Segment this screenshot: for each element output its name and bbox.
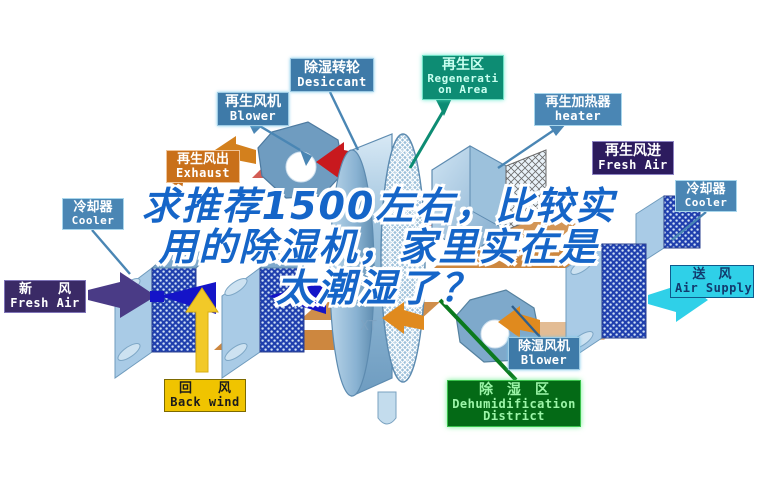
label-cooler-right-cn: 冷却器 (680, 183, 732, 197)
label-air-supply-en: Air Supply (675, 282, 749, 295)
label-fresh-air-in-en: Fresh Air (9, 297, 81, 310)
label-fresh-air-in: 新 风 Fresh Air (4, 280, 86, 313)
label-regeneration-fresh-air-in-cn: 再生风进 (597, 144, 669, 159)
label-desiccant-wheel-cn: 除湿转轮 (295, 61, 369, 76)
label-regeneration-blower-en: Blower (222, 110, 284, 123)
label-regeneration-fresh-air-in: 再生风进 Fresh Air (592, 141, 674, 175)
label-cooler-left: 冷却器 Cooler (62, 198, 124, 230)
label-regeneration-area-cn: 再生区 (427, 58, 499, 73)
label-regeneration-heater: 再生加热器 heater (534, 93, 622, 126)
label-regeneration-heater-en: heater (539, 110, 617, 123)
label-back-wind-cn: 回 风 (169, 382, 241, 396)
label-cooler-left-en: Cooler (67, 215, 119, 227)
label-back-wind: 回 风 Back wind (164, 379, 246, 412)
schematic-artwork: XT (0, 0, 757, 488)
label-cooler-left-cn: 冷却器 (67, 201, 119, 215)
svg-text:XT: XT (360, 319, 377, 334)
label-regeneration-area-en2: on Area (427, 84, 499, 96)
label-dehumidify-blower-en: Blower (513, 354, 575, 367)
label-cooler-right: 冷却器 Cooler (675, 180, 737, 212)
label-exhaust: 再生风出 Exhaust (166, 150, 240, 183)
label-regeneration-heater-cn: 再生加热器 (539, 96, 617, 110)
label-regeneration-blower: 再生风机 Blower (217, 92, 289, 126)
label-cooler-right-en: Cooler (680, 197, 732, 209)
label-dehumidify-blower-cn: 除湿风机 (513, 340, 575, 354)
desiccant-rotor-wheel: XT (330, 134, 425, 424)
label-regeneration-fresh-air-in-en: Fresh Air (597, 159, 669, 172)
label-air-supply-cn: 送 风 (675, 268, 749, 282)
label-fresh-air-in-cn: 新 风 (9, 283, 81, 297)
label-dehumidification-district: 除 湿 区 Dehumidification District (447, 380, 581, 427)
label-desiccant-wheel: 除湿转轮 Desiccant (290, 58, 374, 92)
label-desiccant-wheel-en: Desiccant (295, 76, 369, 89)
label-exhaust-cn: 再生风出 (171, 153, 235, 167)
label-back-wind-en: Back wind (169, 396, 241, 409)
label-exhaust-en: Exhaust (171, 167, 235, 180)
label-dehumidification-district-en2: District (452, 410, 576, 423)
label-dehumidification-district-cn: 除 湿 区 (452, 383, 576, 398)
label-regeneration-area: 再生区 Regenerati on Area (422, 55, 504, 100)
label-dehumidify-blower: 除湿风机 Blower (508, 337, 580, 370)
dehumidifier-schematic-image: XT (0, 0, 757, 488)
label-regeneration-blower-cn: 再生风机 (222, 95, 284, 110)
label-air-supply: 送 风 Air Supply (670, 265, 754, 298)
